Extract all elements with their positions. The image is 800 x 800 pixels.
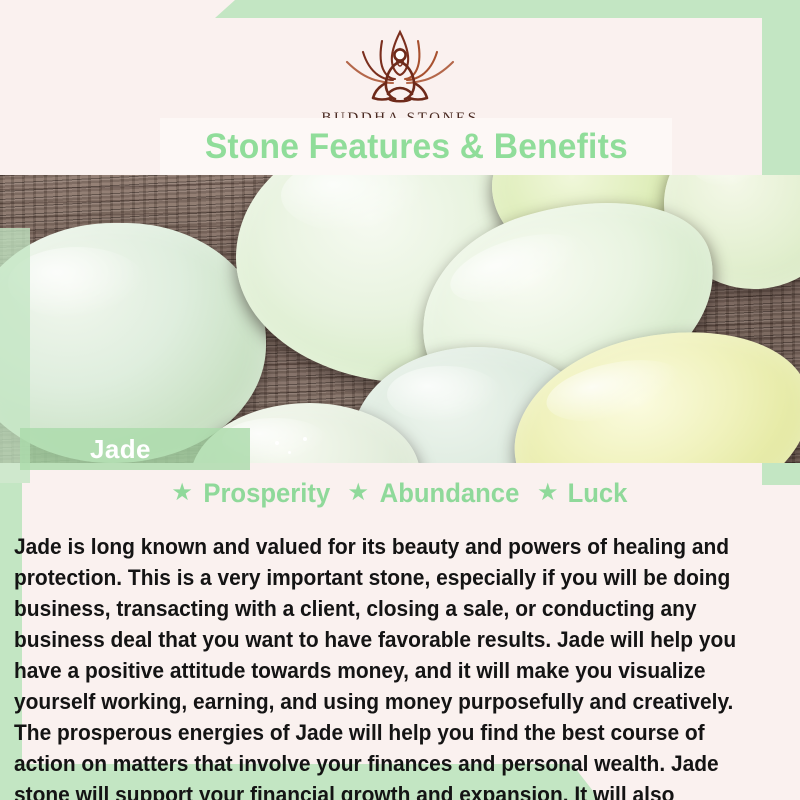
benefit-item-prosperity: ★ Prosperity <box>171 478 333 509</box>
benefits-row: ★ Prosperity ★ Abundance ★ Luck <box>0 477 800 509</box>
sparkle-highlight <box>288 451 291 454</box>
stone-name: Jade <box>90 434 151 465</box>
benefit-label: Luck <box>567 478 627 509</box>
infographic-page: BUDDHA STONES Stone Features & Benefits … <box>0 0 800 800</box>
stone-photo <box>0 175 800 463</box>
description-paragraph: Jade is long known and valued for its be… <box>14 531 739 800</box>
title-banner: Stone Features & Benefits <box>160 118 672 175</box>
benefit-item-luck: ★ Luck <box>537 478 629 509</box>
sparkle-highlight <box>275 441 279 445</box>
benefit-item-abundance: ★ Abundance <box>348 478 524 509</box>
accent-band-top <box>215 0 800 18</box>
lotus-meditation-icon <box>325 28 475 106</box>
benefit-label: Prosperity <box>203 478 330 509</box>
benefit-label: Abundance <box>380 478 520 509</box>
star-icon: ★ <box>171 481 193 505</box>
page-title: Stone Features & Benefits <box>204 127 627 167</box>
stone-name-band: Jade <box>20 428 250 470</box>
sparkle-highlight <box>303 437 307 441</box>
star-icon: ★ <box>537 481 559 505</box>
star-icon: ★ <box>348 481 370 505</box>
